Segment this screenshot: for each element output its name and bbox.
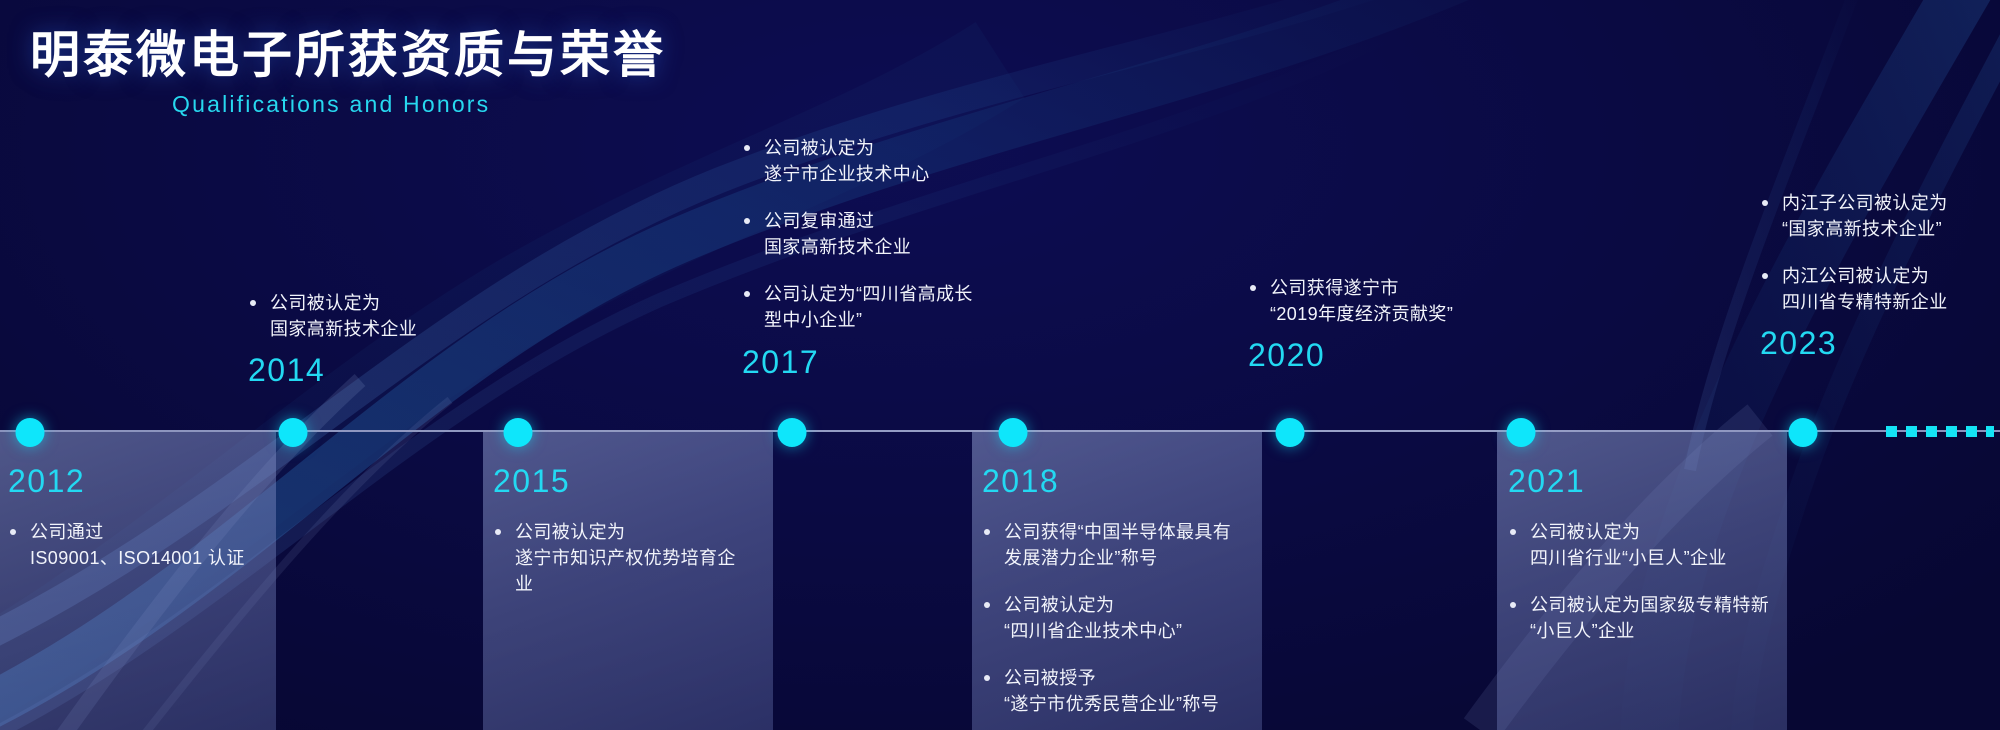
header: 明泰微电子所获资质与荣誉 Qualifications and Honors (30, 28, 666, 118)
bullet-list-2015: 公司被认定为 遂宁市知识产权优势培育企 业 (493, 519, 755, 597)
timeline-entry-2017[interactable]: 公司被认定为 遂宁市企业技术中心 公司复审通过 国家高新技术企业 公司认定为“四… (742, 135, 1012, 378)
list-item: 公司被认定为 遂宁市企业技术中心 (742, 135, 1012, 187)
bullet-list-2017: 公司被认定为 遂宁市企业技术中心 公司复审通过 国家高新技术企业 公司认定为“四… (742, 135, 1012, 334)
timeline-entry-2020[interactable]: 公司获得遂宁市 “2019年度经济贡献奖” 2020 (1248, 275, 1528, 371)
timeline-entry-2014[interactable]: 公司被认定为 国家高新技术企业 2014 (248, 290, 498, 386)
timeline-dot-2017[interactable] (778, 418, 807, 447)
timeline-entry-2023[interactable]: 内江子公司被认定为 “国家高新技术企业” 内江公司被认定为 四川省专精特新企业 … (1760, 190, 2000, 359)
year-label-2020: 2020 (1248, 339, 1528, 371)
list-item: 公司被认定为国家级专精特新 “小巨人”企业 (1508, 592, 1798, 644)
year-label-2015: 2015 (493, 465, 755, 497)
list-item: 公司获得“中国半导体最具有 发展潜力企业”称号 (982, 519, 1254, 571)
year-label-2012: 2012 (8, 465, 268, 497)
list-item: 公司被授予 “遂宁市优秀民营企业”称号 (982, 665, 1254, 717)
list-item: 公司获得遂宁市 “2019年度经济贡献奖” (1248, 275, 1528, 327)
list-item: 公司被认定为 四川省行业“小巨人”企业 (1508, 519, 1798, 571)
timeline-entry-2015[interactable]: 2015 公司被认定为 遂宁市知识产权优势培育企 业 (493, 465, 755, 597)
timeline-dot-2012[interactable] (16, 418, 45, 447)
bullet-list-2021: 公司被认定为 四川省行业“小巨人”企业 公司被认定为国家级专精特新 “小巨人”企… (1508, 519, 1798, 644)
page-title: 明泰微电子所获资质与荣誉 (30, 28, 666, 82)
year-label-2021: 2021 (1508, 465, 1798, 497)
page-subtitle: Qualifications and Honors (172, 91, 666, 118)
timeline-entry-2012[interactable]: 2012 公司通过 IS09001、ISO14001 认证 (8, 465, 268, 571)
timeline-entry-2021[interactable]: 2021 公司被认定为 四川省行业“小巨人”企业 公司被认定为国家级专精特新 “… (1508, 465, 1798, 644)
bullet-list-2020: 公司获得遂宁市 “2019年度经济贡献奖” (1248, 275, 1528, 327)
list-item: 公司被认定为 “四川省企业技术中心” (982, 592, 1254, 644)
timeline-dot-2021[interactable] (1507, 418, 1536, 447)
year-label-2018: 2018 (982, 465, 1254, 497)
list-item: 公司被认定为 遂宁市知识产权优势培育企 业 (493, 519, 755, 597)
slide-canvas: 明泰微电子所获资质与荣誉 Qualifications and Honors 公… (0, 0, 2000, 730)
timeline-entry-2018[interactable]: 2018 公司获得“中国半导体最具有 发展潜力企业”称号 公司被认定为 “四川省… (982, 465, 1254, 718)
year-label-2014: 2014 (248, 354, 498, 386)
list-item: 内江公司被认定为 四川省专精特新企业 (1760, 263, 2000, 315)
bullet-list-2014: 公司被认定为 国家高新技术企业 (248, 290, 498, 342)
list-item: 内江子公司被认定为 “国家高新技术企业” (1760, 190, 2000, 242)
list-item: 公司认定为“四川省高成长 型中小企业” (742, 281, 1012, 333)
bullet-list-2018: 公司获得“中国半导体最具有 发展潜力企业”称号 公司被认定为 “四川省企业技术中… (982, 519, 1254, 718)
timeline-dot-2018[interactable] (999, 418, 1028, 447)
list-item: 公司被认定为 国家高新技术企业 (248, 290, 498, 342)
timeline-dot-2015[interactable] (504, 418, 533, 447)
timeline-dot-2023[interactable] (1789, 418, 1818, 447)
timeline-dashed-continuation-icon (1886, 426, 1994, 437)
list-item: 公司通过 IS09001、ISO14001 认证 (8, 519, 268, 571)
timeline-dot-2014[interactable] (279, 418, 308, 447)
bullet-list-2023: 内江子公司被认定为 “国家高新技术企业” 内江公司被认定为 四川省专精特新企业 (1760, 190, 2000, 315)
year-label-2017: 2017 (742, 346, 1012, 378)
bullet-list-2012: 公司通过 IS09001、ISO14001 认证 (8, 519, 268, 571)
timeline-dot-2020[interactable] (1276, 418, 1305, 447)
year-label-2023: 2023 (1760, 327, 2000, 359)
list-item: 公司复审通过 国家高新技术企业 (742, 208, 1012, 260)
